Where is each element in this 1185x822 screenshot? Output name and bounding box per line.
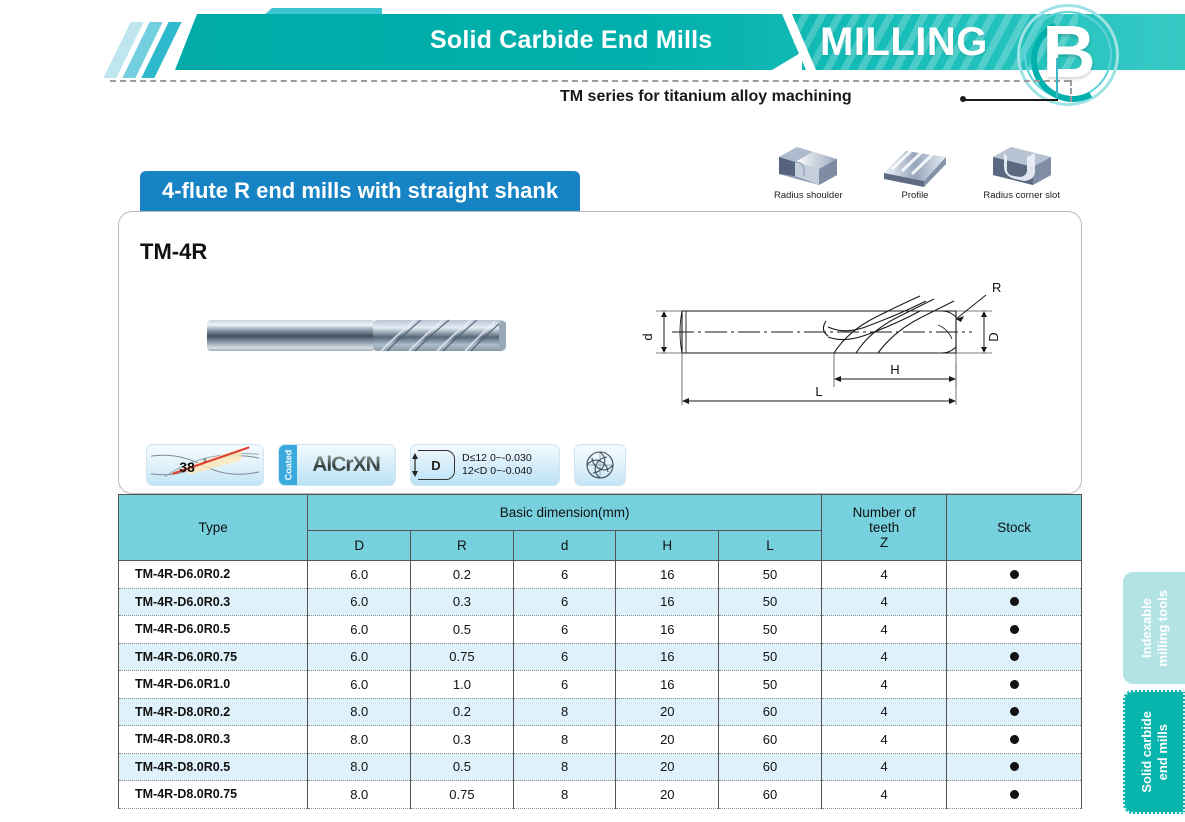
cell-H: 20 [616,781,719,809]
cell-R: 0.5 [411,616,514,644]
table-row: TM-4R-D8.0R0.28.00.2820604 [119,698,1082,726]
cell-D: 6.0 [308,671,411,699]
coated-label-strip: Coated [279,445,297,485]
banner-dashed-rule [110,80,1070,82]
helix-angle-badge: 38 ° [146,444,264,486]
cell-stock [947,671,1082,699]
side-tab-indexable-milling-tools[interactable]: Indexable milling tools [1123,572,1185,684]
tolerance-symbol: D [418,450,455,480]
cell-d: 6 [513,561,616,589]
cell-Z: 4 [821,561,947,589]
cell-stock [947,698,1082,726]
header-stock: Stock [947,495,1082,561]
cell-Z: 4 [821,726,947,754]
cell-type: TM-4R-D6.0R0.2 [119,561,308,589]
cell-type: TM-4R-D8.0R0.5 [119,753,308,781]
cell-D: 6.0 [308,643,411,671]
tool-photo [205,313,510,358]
table-row: TM-4R-D8.0R0.38.00.3820604 [119,726,1082,754]
cell-R: 0.5 [411,753,514,781]
stock-dot [1010,790,1019,799]
table-row: TM-4R-D6.0R0.36.00.3616504 [119,588,1082,616]
cell-D: 6.0 [308,616,411,644]
coating-badge: Coated AlCrXN [278,444,396,486]
banner-category: MILLING [820,18,988,66]
stock-dot [1010,597,1019,606]
cell-D: 8.0 [308,781,411,809]
coated-label: Coated [283,450,293,481]
tolerance-line-1: D≤12 0~-0.030 [462,452,532,465]
header-col-L: L [719,531,822,561]
header-teeth: Number of teeth Z [821,495,947,561]
cell-D: 8.0 [308,753,411,781]
cell-d: 8 [513,698,616,726]
table-header: Type Basic dimension(mm) Number of teeth… [119,495,1082,561]
product-tab-title[interactable]: 4-flute R end mills with straight shank [140,171,580,211]
cell-H: 16 [616,588,719,616]
stock-dot [1010,652,1019,661]
table-body: TM-4R-D6.0R0.26.00.2616504TM-4R-D6.0R0.3… [119,561,1082,809]
cell-Z: 4 [821,753,947,781]
tolerance-line-2: 12<D 0~-0.040 [462,465,532,478]
cell-R: 1.0 [411,671,514,699]
header-col-H: H [616,531,719,561]
cell-R: 0.75 [411,643,514,671]
page-banner: Solid Carbide End Mills MILLING B TM ser… [0,0,1185,112]
cell-stock [947,616,1082,644]
cell-d: 8 [513,753,616,781]
cell-d: 6 [513,588,616,616]
cell-stock [947,781,1082,809]
svg-text:L: L [815,384,822,399]
application-radius-corner-slot: Radius corner slot [968,143,1075,211]
cell-R: 0.2 [411,698,514,726]
banner-title: Solid Carbide End Mills [430,26,712,55]
header-teeth-line1: Number of [822,505,947,520]
cell-L: 50 [719,616,822,644]
table-row: TM-4R-D8.0R0.758.00.75820604 [119,781,1082,809]
cell-stock [947,561,1082,589]
radius-corner-slot-icon [968,143,1075,189]
flute-count-badge [574,444,626,486]
header-col-R: R [411,531,514,561]
cell-Z: 4 [821,616,947,644]
header-col-d: d [513,531,616,561]
cell-D: 6.0 [308,588,411,616]
cell-type: TM-4R-D6.0R0.5 [119,616,308,644]
application-profile: Profile [862,143,969,211]
svg-text:°: ° [203,458,207,469]
four-flute-end-icon [580,447,620,483]
product-code: TM-4R [140,239,207,265]
cell-L: 60 [719,753,822,781]
header-col-D: D [308,531,411,561]
cell-type: TM-4R-D8.0R0.2 [119,698,308,726]
cell-d: 6 [513,643,616,671]
stock-dot [1010,707,1019,716]
stock-dot [1010,680,1019,689]
subtitle-connector-line [963,99,1058,101]
svg-text:R: R [992,280,1001,295]
svg-text:D: D [986,332,1001,341]
specification-table: Type Basic dimension(mm) Number of teeth… [118,494,1082,809]
application-label: Radius shoulder [755,190,862,201]
header-teeth-line3: Z [822,535,947,550]
cell-type: TM-4R-D6.0R0.3 [119,588,308,616]
cell-Z: 4 [821,643,947,671]
cell-stock [947,643,1082,671]
application-radius-shoulder: Radius shoulder [755,143,862,211]
tolerance-symbol-letter: D [431,458,440,473]
cell-L: 60 [719,726,822,754]
cell-type: TM-4R-D6.0R1.0 [119,671,308,699]
cell-type: TM-4R-D6.0R0.75 [119,643,308,671]
cell-stock [947,753,1082,781]
cell-Z: 4 [821,781,947,809]
cell-Z: 4 [821,671,947,699]
cell-H: 16 [616,616,719,644]
svg-text:d: d [640,333,655,340]
svg-text:H: H [890,362,899,377]
cell-R: 0.2 [411,561,514,589]
cell-Z: 4 [821,588,947,616]
cell-type: TM-4R-D8.0R0.3 [119,726,308,754]
stock-dot [1010,570,1019,579]
application-label: Radius corner slot [968,190,1075,201]
side-tab-solid-carbide-end-mills[interactable]: Solid carbide end mills [1123,690,1185,814]
radius-shoulder-icon [755,143,862,189]
side-tab-line1: Indexable [1139,598,1154,658]
cell-stock [947,726,1082,754]
cell-H: 20 [616,753,719,781]
table-row: TM-4R-D6.0R1.06.01.0616504 [119,671,1082,699]
subtitle-connector-vertical [1056,58,1058,101]
table-row: TM-4R-D6.0R0.26.00.2616504 [119,561,1082,589]
side-tab-line2: milling tools [1155,590,1170,667]
table-row: TM-4R-D6.0R0.756.00.75616504 [119,643,1082,671]
cell-L: 50 [719,671,822,699]
cell-Z: 4 [821,698,947,726]
cell-H: 20 [616,726,719,754]
side-tab-line1: Solid carbide [1139,711,1154,793]
profile-icon [862,143,969,189]
table-row: TM-4R-D6.0R0.56.00.5616504 [119,616,1082,644]
cell-d: 8 [513,726,616,754]
stock-dot [1010,625,1019,634]
cell-H: 16 [616,561,719,589]
header-basic-dimension: Basic dimension(mm) [308,495,821,531]
cell-H: 16 [616,671,719,699]
header-type: Type [119,495,308,561]
cell-L: 50 [719,588,822,616]
cell-D: 8.0 [308,698,411,726]
helix-angle-icon: 38 ° [147,444,263,486]
feature-badges: 38 ° Coated AlCrXN D D≤12 0~-0.030 12<D … [146,443,626,487]
stock-dot [1010,762,1019,771]
table-row: TM-4R-D8.0R0.58.00.5820604 [119,753,1082,781]
helix-angle-value: 38 [179,460,195,475]
cell-d: 6 [513,671,616,699]
cell-R: 0.75 [411,781,514,809]
application-label: Profile [862,190,969,201]
diameter-tolerance-badge: D D≤12 0~-0.030 12<D 0~-0.040 [410,444,560,486]
application-icons: Radius shoulder Profile [755,143,1075,211]
cell-H: 16 [616,643,719,671]
cell-R: 0.3 [411,726,514,754]
cell-R: 0.3 [411,588,514,616]
side-tab-line2: end mills [1155,724,1170,780]
banner-subtitle: TM series for titanium alloy machining [560,88,852,106]
cell-L: 50 [719,643,822,671]
cell-D: 6.0 [308,561,411,589]
cell-stock [947,588,1082,616]
cell-D: 8.0 [308,726,411,754]
cell-L: 50 [719,561,822,589]
cell-L: 60 [719,698,822,726]
cell-d: 8 [513,781,616,809]
cell-H: 20 [616,698,719,726]
cell-d: 6 [513,616,616,644]
coating-name: AlCrXN [297,453,395,477]
technical-drawing: d D R H L [620,275,1040,410]
header-teeth-line2: teeth [822,520,947,535]
cell-type: TM-4R-D8.0R0.75 [119,781,308,809]
cell-L: 60 [719,781,822,809]
stock-dot [1010,735,1019,744]
